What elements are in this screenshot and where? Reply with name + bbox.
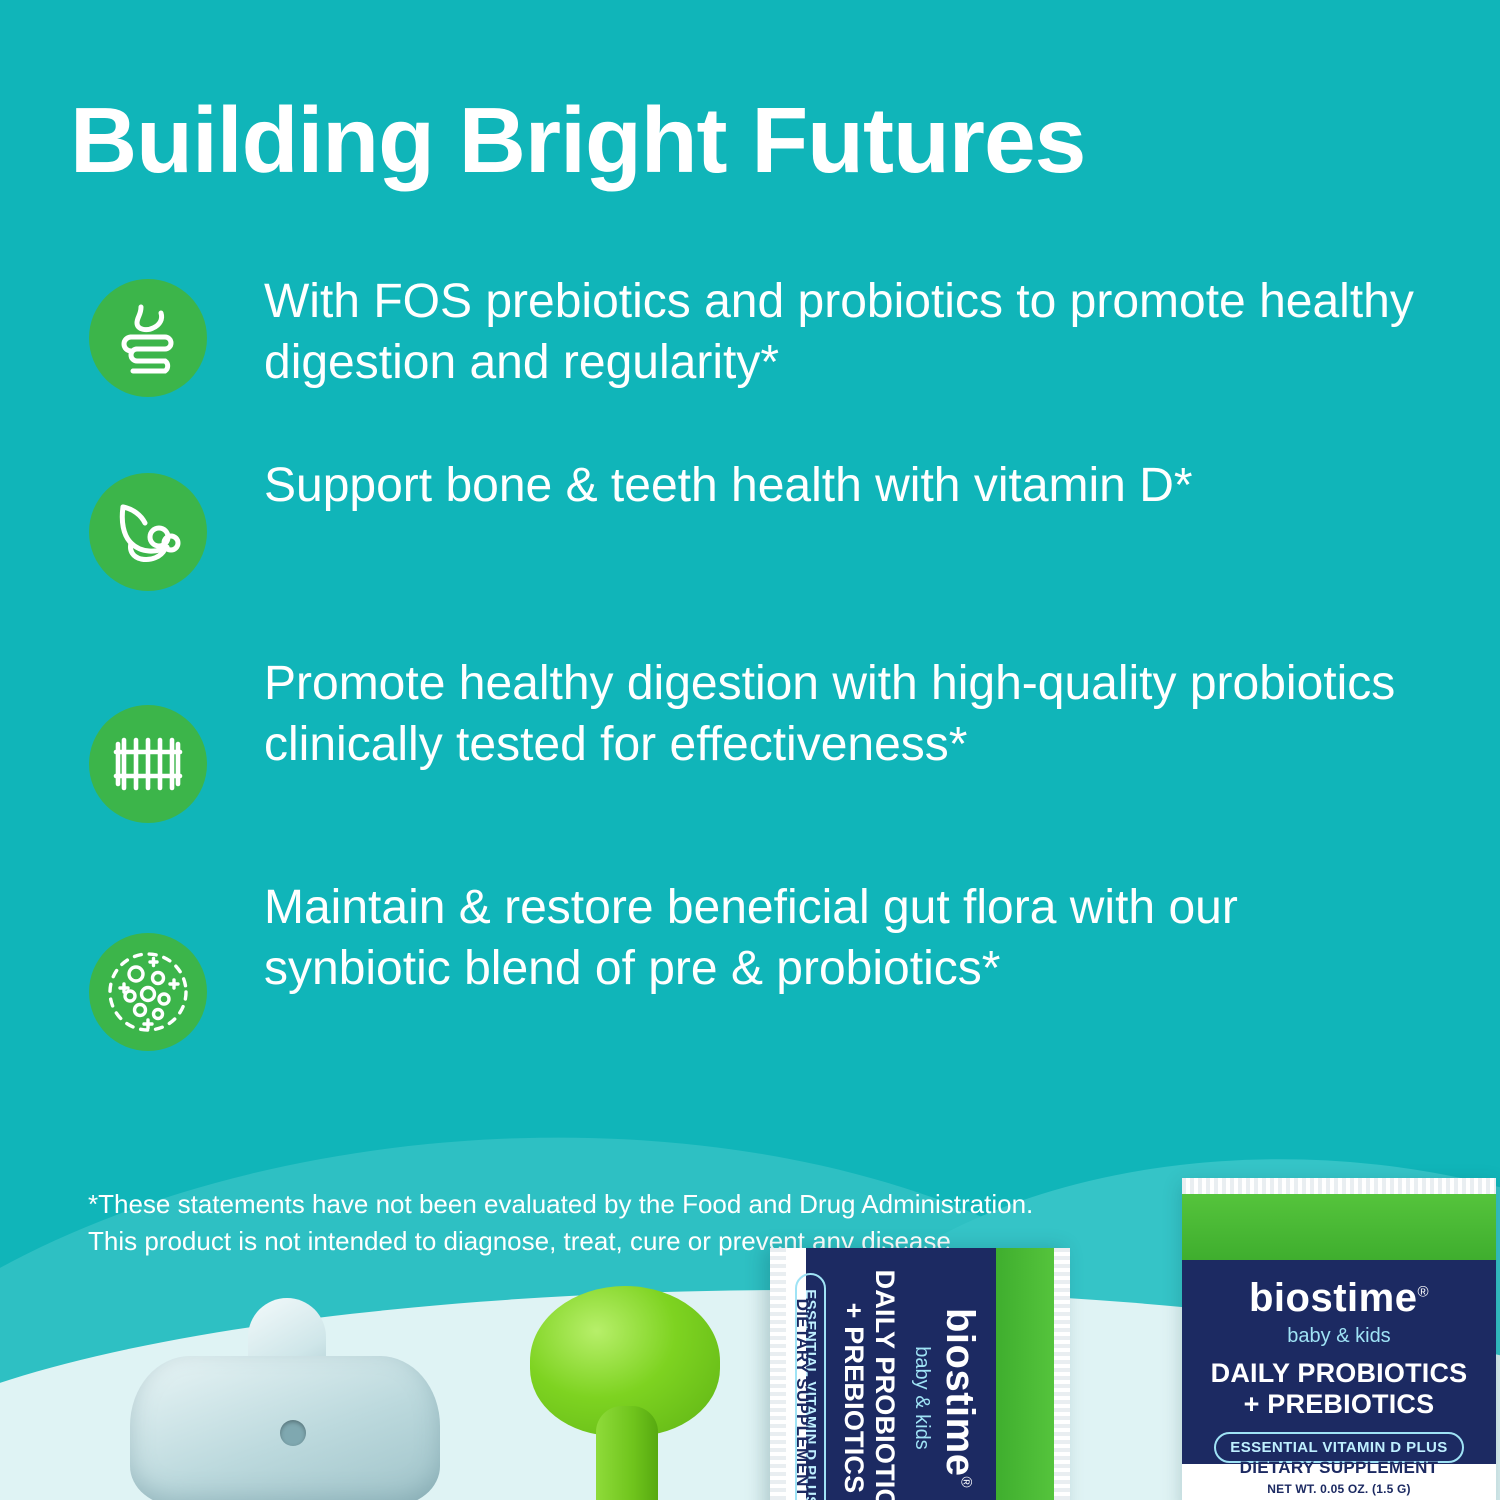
benefit-list: With FOS prebiotics and probiotics to pr… (86, 268, 1426, 1054)
trademark-symbol: ® (957, 1476, 974, 1488)
intestinal-villi-icon (89, 705, 207, 823)
benefit-icon-wrap (86, 470, 210, 594)
brand-logo: biostime® (1182, 1276, 1496, 1321)
net-weight-label: NET WT. 0.05 OZ. (1.5 G) (1182, 1482, 1496, 1496)
benefit-text: Promote healthy digestion with high-qual… (210, 650, 1426, 776)
dietary-supplement-label: DIETARY SUPPLEMENT (792, 1248, 812, 1500)
spoon-handle (596, 1406, 658, 1500)
disclaimer-line-1: *These statements have not been evaluate… (88, 1186, 1188, 1223)
sachet-crimp-bottom (770, 1248, 786, 1500)
benefit-text: Maintain & restore beneficial gut flora … (210, 874, 1426, 1000)
brand-subtitle: baby & kids (1182, 1325, 1496, 1348)
sachet-navy-panel: biostime® baby & kids DAILY PROBIOTICS +… (1182, 1260, 1496, 1464)
brand-logo: biostime® (937, 1248, 982, 1500)
baby-pacifier-image (120, 1296, 450, 1500)
stomach-intestine-icon (89, 279, 207, 397)
benefit-icon-wrap (86, 702, 210, 826)
brand-subtitle: baby & kids (910, 1248, 933, 1500)
page-title: Building Bright Futures (70, 92, 1450, 190)
product-sachet-small: biostime® baby & kids DAILY PROBIOTICS +… (770, 1248, 1070, 1500)
pacifier-hole (280, 1420, 306, 1446)
gut-flora-bacteria-icon (89, 933, 207, 1051)
sachet-crimp-top (1182, 1178, 1496, 1194)
sachet-small-face: biostime® baby & kids DAILY PROBIOTICS +… (770, 1248, 1070, 1500)
benefit-item-gut-flora: Maintain & restore beneficial gut flora … (86, 874, 1426, 1054)
product-title-line-2: + PREBIOTICS (1182, 1389, 1496, 1420)
product-title-line-1: DAILY PROBIOTICS (869, 1248, 900, 1500)
benefit-item-digestion: With FOS prebiotics and probiotics to pr… (86, 268, 1426, 400)
sachet-green-band (996, 1248, 1054, 1500)
flexed-arm-muscle-icon (89, 473, 207, 591)
benefit-item-bone-teeth: Support bone & teeth health with vitamin… (86, 452, 1426, 594)
benefit-item-clinically-tested: Promote healthy digestion with high-qual… (86, 650, 1426, 826)
sachet-green-band (1182, 1194, 1496, 1260)
product-sachet-large: biostime® baby & kids DAILY PROBIOTICS +… (1182, 1178, 1496, 1500)
benefit-text: Support bone & teeth health with vitamin… (210, 452, 1426, 517)
trademark-symbol: ® (1417, 1284, 1429, 1301)
sachet-navy-panel: biostime® baby & kids DAILY PROBIOTICS +… (806, 1248, 996, 1500)
benefit-icon-wrap (86, 930, 210, 1054)
promo-banner: Building Bright Futures Wi (0, 0, 1500, 1500)
dietary-supplement-label: DIETARY SUPPLEMENT (1182, 1458, 1496, 1478)
benefit-icon-wrap (86, 276, 210, 400)
benefit-text: With FOS prebiotics and probiotics to pr… (210, 268, 1426, 394)
sachet-footer: DIETARY SUPPLEMENT NET WT. 0.05 OZ. (1.5… (1182, 1458, 1496, 1496)
product-title-line-1: DAILY PROBIOTICS (1182, 1358, 1496, 1389)
product-title-line-2: + PREBIOTICS (838, 1248, 869, 1500)
green-baby-spoon-image (510, 1286, 770, 1500)
sachet-crimp-top (1054, 1248, 1070, 1500)
